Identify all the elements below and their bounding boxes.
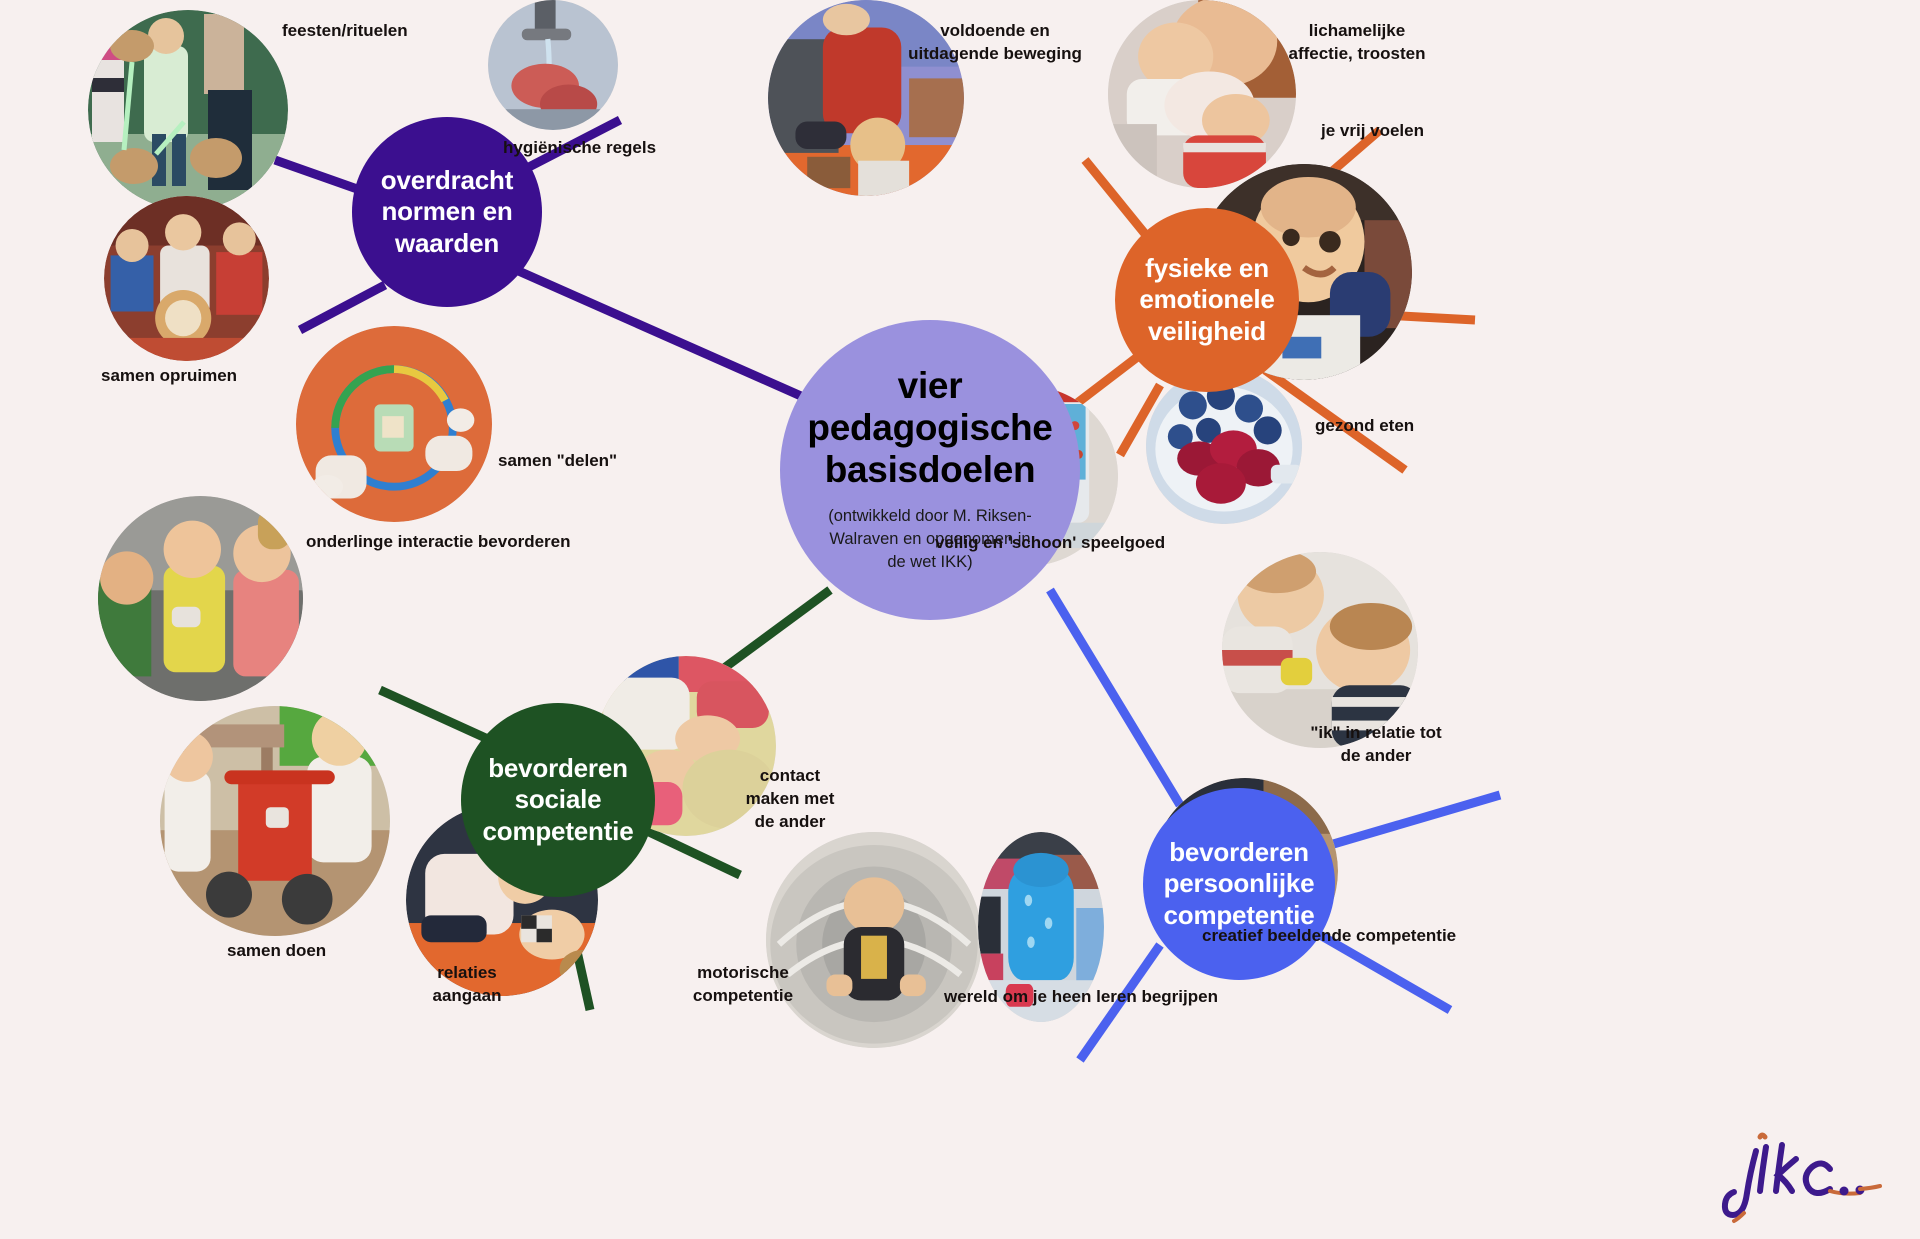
branch-label-sociaal: bevorderen sociale competentie	[461, 753, 655, 847]
edge-normen-opruimen	[300, 285, 385, 330]
photo-samen-delen	[296, 326, 492, 522]
caption-voldoende-beweging: voldoende en uitdagende beweging	[900, 20, 1090, 66]
branch-node-sociaal[interactable]: bevorderen sociale competentie	[461, 703, 655, 897]
photo-gezondeten-art	[1146, 368, 1302, 524]
caption-lichamelijke-affectie: lichamelijke affectie, troosten	[1260, 20, 1454, 66]
photo-motorische-competentie	[766, 832, 982, 1048]
branch-node-persoon[interactable]: bevorderen persoonlijke competentie	[1143, 788, 1335, 980]
photo-samendoen-art	[160, 706, 390, 936]
photo-feesten-art	[88, 10, 288, 210]
edge-sociaal-contact	[645, 830, 740, 875]
photo-ik-in-relatie-tot-de-ander	[1222, 552, 1418, 748]
photo-ikrelatie-art	[1222, 552, 1418, 748]
caption-ik-in-relatie: "ik" in relatie tot de ander	[1296, 722, 1456, 768]
branch-label-persoon: bevorderen persoonlijke competentie	[1143, 837, 1335, 931]
caption-samen-opruimen: samen opruimen	[101, 365, 237, 388]
edge-hub-normen	[505, 265, 810, 400]
caption-motorische-competentie: motorische competentie	[688, 962, 798, 1008]
caption-feesten-rituelen: feesten/rituelen	[282, 20, 408, 43]
photo-interactie-art	[98, 496, 303, 701]
photo-gezond-eten	[1146, 368, 1302, 524]
caption-wereld-leren-begrijpen: wereld om je heen leren begrijpen	[944, 986, 1218, 1009]
edge-normen-feesten	[275, 160, 360, 190]
photo-motorisch-art	[766, 832, 982, 1048]
caption-samen-doen: samen doen	[227, 940, 326, 963]
mindmap-canvas: vier pedagogische basisdoelen (ontwikkel…	[0, 0, 1920, 1239]
branch-label-normen: overdracht normen en waarden	[352, 165, 542, 259]
caption-onderlinge-interactie: onderlinge interactie bevorderen	[306, 531, 571, 554]
edge-fysiek-beweging	[1085, 160, 1150, 240]
photo-onderlinge-interactie	[98, 496, 303, 701]
caption-veilig-schoon-speelgoed: veilig en 'schoon' speelgoed	[935, 532, 1165, 555]
caption-hygienische-regels: hygiënische regels	[503, 137, 656, 160]
caption-gezond-eten: gezond eten	[1315, 415, 1414, 438]
branch-label-fysiek: fysieke en emotionele veiligheid	[1115, 253, 1299, 347]
jkc-logo	[1704, 1129, 1894, 1225]
photo-samen-opruimen	[104, 196, 269, 361]
photo-delen-art	[296, 326, 492, 522]
photo-hygienische-regels	[488, 0, 618, 130]
hub-title: vier pedagogische basisdoelen	[780, 365, 1080, 490]
caption-contact-maken: contact maken met de ander	[716, 765, 864, 834]
photo-samen-doen	[160, 706, 390, 936]
caption-samen-delen: samen "delen"	[498, 450, 617, 473]
edge-persoon-ikrelatie	[1330, 795, 1500, 845]
caption-je-vrij-voelen: je vrij voelen	[1321, 120, 1424, 143]
caption-relaties-aangaan: relaties aangaan	[409, 962, 525, 1008]
edge-sociaal-interactie	[380, 690, 490, 740]
photo-opruimen-art	[104, 196, 269, 361]
photo-feesten-rituelen	[88, 10, 288, 210]
edge-hub-persoon	[1050, 590, 1180, 805]
hub-node[interactable]: vier pedagogische basisdoelen (ontwikkel…	[780, 320, 1080, 620]
photo-hygiene-art	[488, 0, 618, 130]
caption-creatief-beeldende: creatief beeldende competentie	[1202, 925, 1456, 948]
branch-node-fysiek[interactable]: fysieke en emotionele veiligheid	[1115, 208, 1299, 392]
